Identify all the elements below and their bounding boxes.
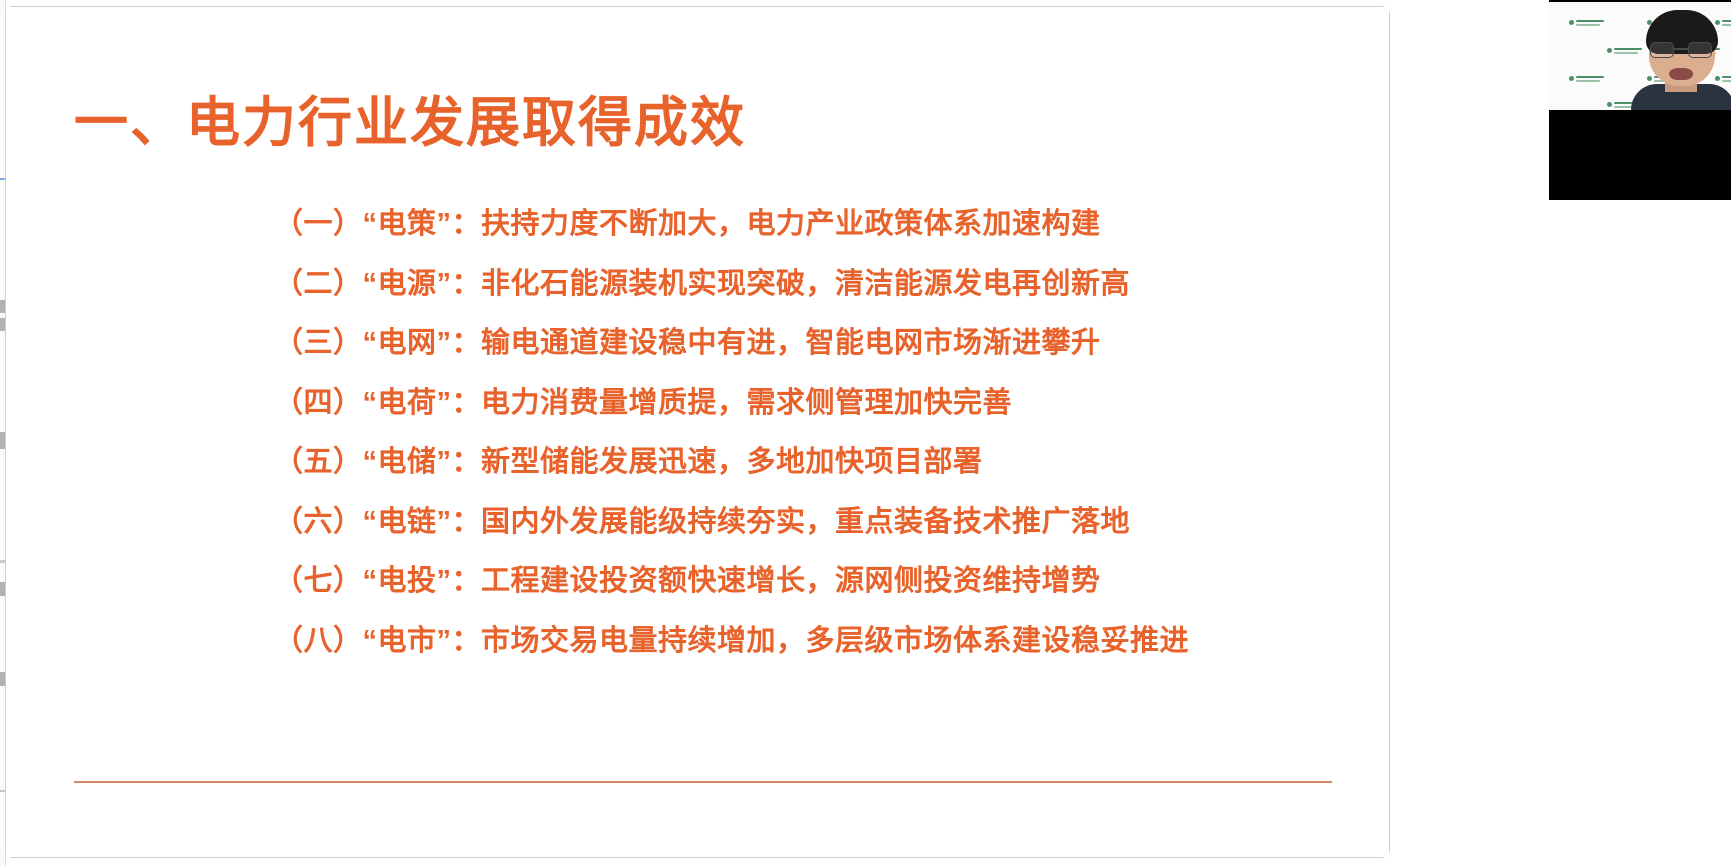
video-feed <box>1549 2 1731 110</box>
presenter-mouth <box>1669 68 1693 80</box>
presenter-figure <box>1629 14 1731 110</box>
logo-wordmark <box>1576 20 1604 26</box>
glasses-icon <box>1650 42 1714 58</box>
screen-root: 一、电力行业发展取得成效 （一）“电策”：扶持力度不断加大，电力产业政策体系加速… <box>0 0 1731 866</box>
logo-mark-icon <box>1569 20 1574 25</box>
bullet-item-8: （八）“电市”：市场交易电量持续增加，多层级市场体系建设稳妥推进 <box>274 612 1374 672</box>
video-letterbox <box>1549 110 1731 200</box>
backdrop-logo-icon <box>1569 20 1604 26</box>
bullet-item-4: （四）“电荷”：电力消费量增质提，需求侧管理加快完善 <box>274 374 1374 434</box>
logo-mark-icon <box>1607 48 1612 53</box>
video-white-margin <box>1390 0 1549 200</box>
bullet-item-2: （二）“电源”：非化石能源装机实现突破，清洁能源发电再创新高 <box>274 255 1374 315</box>
bullet-item-7: （七）“电投”：工程建设投资额快速增长，源网侧投资维持增势 <box>274 552 1374 612</box>
bullet-item-3: （三）“电网”：输电通道建设稳中有进，智能电网市场渐进攀升 <box>274 314 1374 374</box>
slide-divider-rule <box>74 781 1332 783</box>
speaker-video-panel[interactable] <box>1390 0 1731 200</box>
logo-wordmark <box>1576 76 1604 82</box>
logo-mark-icon <box>1607 102 1612 107</box>
bullet-item-1: （一）“电策”：扶持力度不断加大，电力产业政策体系加速构建 <box>274 195 1374 255</box>
bullet-item-6: （六）“电链”：国内外发展能级持续夯实，重点装备技术推广落地 <box>274 493 1374 553</box>
logo-mark-icon <box>1569 76 1574 81</box>
backdrop-logo-icon <box>1569 76 1604 82</box>
presentation-slide: 一、电力行业发展取得成效 （一）“电策”：扶持力度不断加大，电力产业政策体系加速… <box>6 7 1389 857</box>
bottom-caption-strip <box>8 861 1723 866</box>
slide-title: 一、电力行业发展取得成效 <box>74 95 746 152</box>
slide-bullet-list: （一）“电策”：扶持力度不断加大，电力产业政策体系加速构建 （二）“电源”：非化… <box>274 195 1374 671</box>
bullet-item-5: （五）“电储”：新型储能发展迅速，多地加快项目部署 <box>274 433 1374 493</box>
